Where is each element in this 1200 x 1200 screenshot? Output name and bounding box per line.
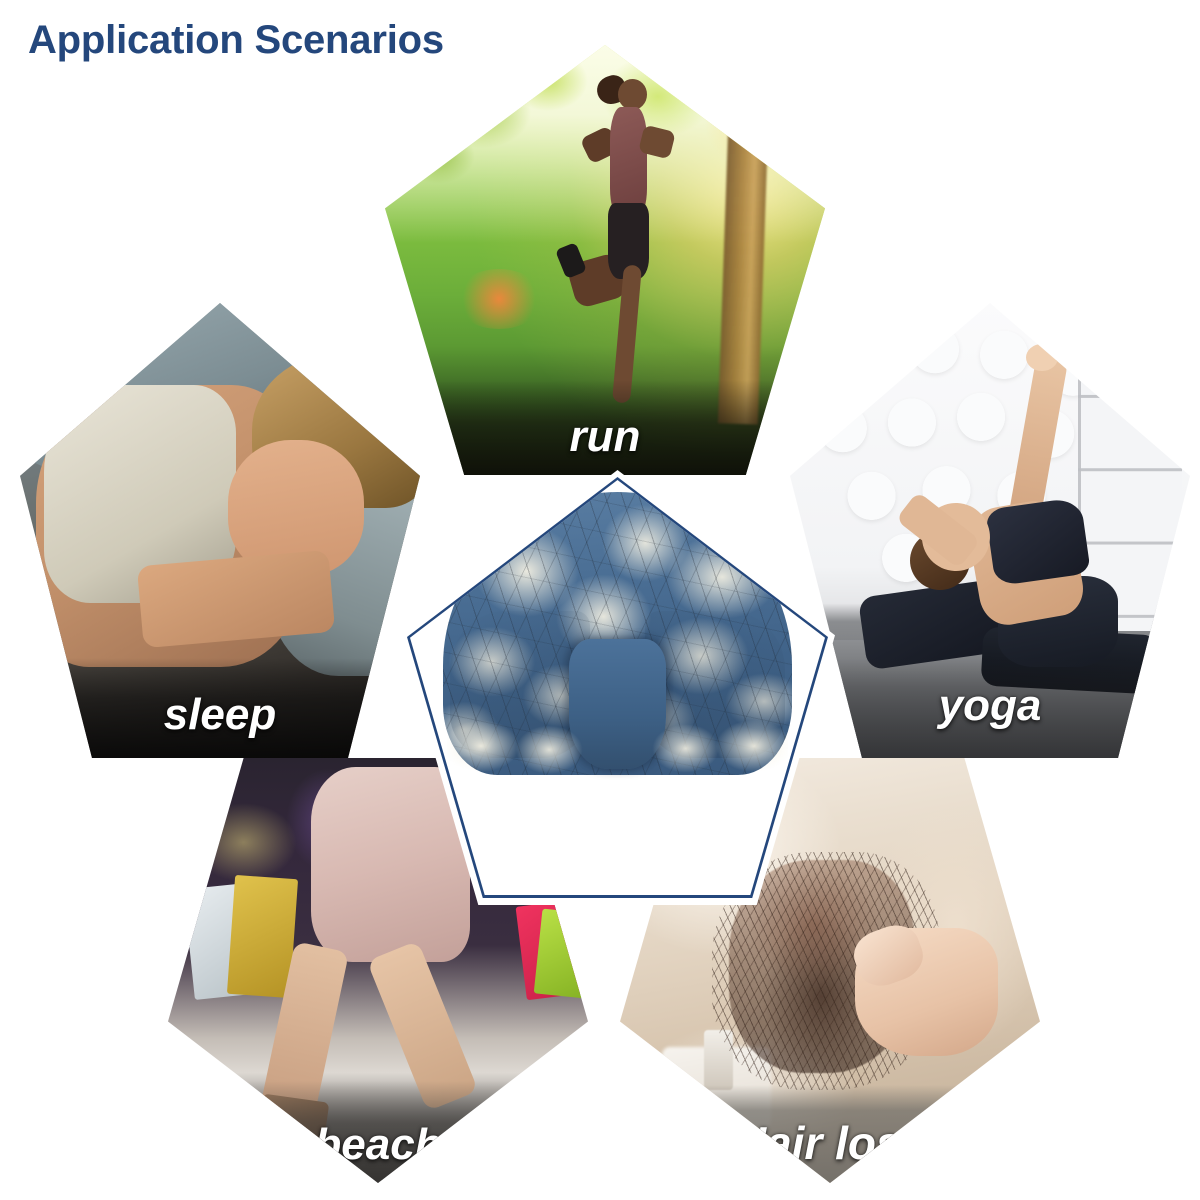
scenario-label-yoga: yoga bbox=[790, 681, 1190, 731]
application-scenarios-graphic: Application Scenarios run bbox=[0, 0, 1200, 1200]
scenario-label-sleep: sleep bbox=[20, 690, 420, 740]
yogi-hand bbox=[1026, 344, 1058, 371]
tree-trunk bbox=[718, 70, 770, 424]
scenario-label-hair-loss: Hair loss bbox=[620, 1116, 1040, 1170]
product-turban bbox=[443, 492, 792, 774]
pentagon-frame-inner bbox=[410, 480, 825, 895]
scenario-card-sleep[interactable]: sleep bbox=[20, 303, 420, 758]
yogi-sports-bra bbox=[985, 497, 1091, 587]
lens-flare bbox=[455, 269, 543, 329]
runner-figure bbox=[565, 79, 697, 423]
page-title: Application Scenarios bbox=[28, 18, 444, 63]
scenario-card-run[interactable]: run bbox=[385, 45, 825, 475]
sleeper-arm bbox=[137, 550, 335, 648]
scenario-label-run: run bbox=[385, 412, 825, 462]
scenario-card-yoga[interactable]: yoga bbox=[790, 303, 1190, 758]
scenario-label-beach: beach bbox=[168, 1120, 588, 1170]
product-showcase-pentagon[interactable] bbox=[400, 470, 835, 905]
shopping-bag-green bbox=[533, 909, 588, 999]
turban-hem-band bbox=[447, 715, 789, 777]
